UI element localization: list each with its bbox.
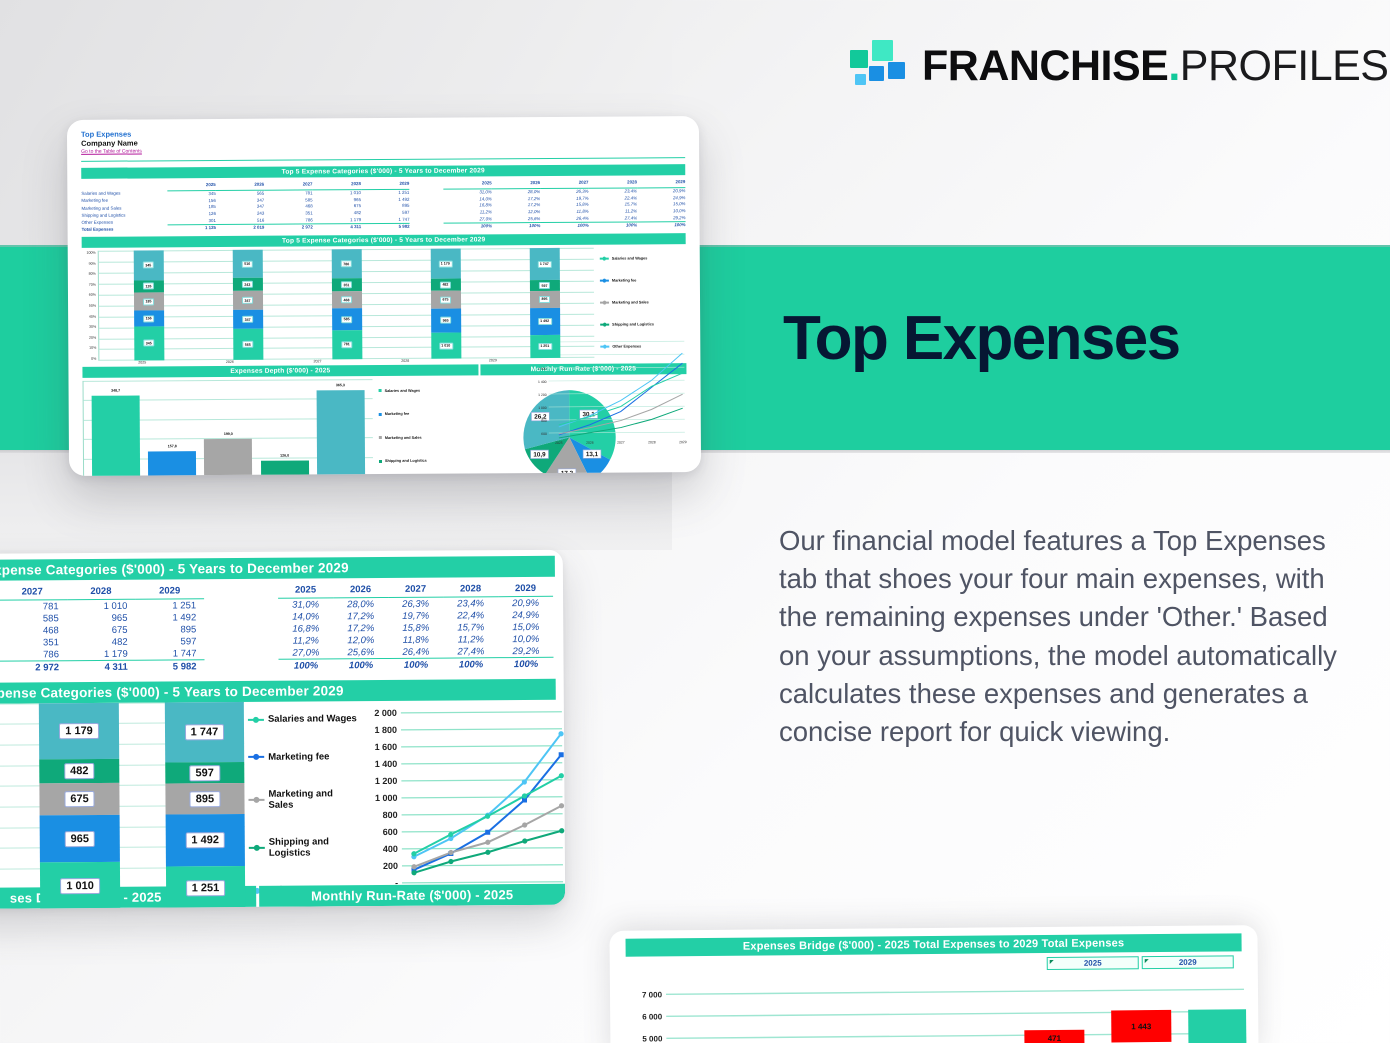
cell-pct: 28,0% [333,598,388,610]
legend-item: Salaries and Wages [379,388,451,393]
cell: 786 [0,648,67,660]
col-header: 2028 [312,181,360,190]
svg-text:2026: 2026 [586,441,594,445]
cell-pct: 15,7% [443,621,498,633]
seg-label: 675 [64,791,94,807]
left-table: 2026 2027 2028 2029 565 781 1 010 1 251 … [0,577,564,675]
svg-text:2027: 2027 [617,441,625,445]
screenshot-card-top-expenses[interactable]: Top Expenses Company Name Go to the Tabl… [67,116,701,476]
cell-pct: 14,0% [278,610,333,622]
cell-total: 2 972 [0,660,67,674]
cell-pct: 10,0% [498,633,553,645]
legend-item: Marketing fee [600,278,686,283]
cell-pct: 11,8% [388,634,443,646]
col-header: 2028 [588,180,636,189]
depth-legend: Salaries and Wages Marketing fee Marketi… [373,379,452,476]
col-header: 2026 [216,182,264,191]
svg-text:1 443: 1 443 [1131,1022,1152,1031]
col-header: 2027 [264,182,312,191]
svg-text:800: 800 [541,419,547,423]
svg-text:200: 200 [383,860,398,870]
cell-total-pct: 100% [499,657,554,671]
logo-mark-icon [850,38,906,94]
screenshot-card-left-detail[interactable]: Top 5 Expense Categories ($'000) - 5 Yea… [0,550,565,910]
seg-label: 482 [64,763,94,779]
cell-total-pct: 100% [492,222,540,230]
seg-label: 1 251 [538,343,552,350]
cell-pct: 17,2% [333,610,388,622]
col-header: 2027 [388,584,443,598]
legend-item: Marketing and Sales [248,788,359,811]
stacked-bar: 516 243 347 347 565 [232,250,263,360]
legend-item: Marketing and Sales [379,435,451,440]
logo-word-franchise: FRANCHISE [922,42,1168,90]
cell-pct: 25,6% [333,646,388,658]
seg-label: 786 [341,260,352,267]
svg-text:2028: 2028 [648,440,656,444]
hero-description: Our financial model features a Top Expen… [779,522,1344,751]
cell-total-pct: 100% [540,222,588,230]
svg-text:2029: 2029 [679,440,687,444]
bar-gap [0,703,41,909]
depth-bar: 365,3 [316,390,365,476]
cell-pct: 31,0% [278,598,333,610]
seg-label: 1 179 [59,723,99,739]
legend-item: Shipping and Logistics [379,459,451,464]
svg-text:5 000: 5 000 [642,1034,663,1043]
cell: 675 [67,624,136,636]
cell-total: 5 982 [136,659,205,673]
cell-pct: 29,2% [498,645,553,657]
cell-total-pct: 100% [279,658,334,672]
left-charts-row: 516 243 347 347 565 1 179 482 675 965 1 … [0,699,565,909]
legend-item: Marketing fee [248,751,359,763]
logo-word-profiles: PROFILES [1180,42,1389,90]
depth-bar: 348,7 [92,396,141,476]
cell: 781 [0,600,67,612]
seg-label: 482 [440,281,451,288]
cell-total: 2 972 [264,224,312,232]
cell: 585 [0,612,67,624]
stacked-bar: 1 747 597 895 1 492 1 251 [529,248,560,358]
svg-text:1 200: 1 200 [375,775,398,785]
legend-swatch-icon [248,799,264,801]
legend-swatch-icon [248,719,264,721]
legend-swatch-icon [248,756,264,758]
seg-label: 675 [440,296,451,303]
cell: 1 251 [135,599,204,611]
svg-text:13,1: 13,1 [585,451,598,458]
seg-label: 1 747 [185,724,225,740]
top-5-table: Salaries and Wages Marketing fee Marketi… [81,179,685,232]
legend-swatch-icon [249,847,265,849]
cell-total-pct: 100% [389,658,444,672]
legend-item: Salaries and Wages [600,256,686,261]
logo-dot: . [1168,42,1179,90]
seg-label: 1 010 [60,878,100,894]
select-to-year[interactable]: 2029 [1142,955,1234,969]
svg-text:1 000: 1 000 [375,792,398,802]
seg-label: 1 179 [438,260,452,267]
cell: 895 [136,623,205,635]
svg-text:600: 600 [383,826,398,836]
cell-pct: 11,2% [443,633,498,645]
seg-label: 565 [242,341,253,348]
seg-label: 345 [143,340,154,347]
left-values-grid: 2026 2027 2028 2029 565 781 1 010 1 251 … [0,585,205,674]
depth-bar: 157,8 [148,452,196,476]
cell-pct: 12,0% [333,634,388,646]
col-header: 2025 [167,182,215,191]
table-gap [409,181,443,231]
cell-total: 1 125 [168,224,216,232]
row-label-total: Total Expenses [82,225,168,233]
stacked-bar: 1 747 597 895 1 492 1 251 [165,701,246,909]
cell-pct: 23,4% [443,597,498,609]
col-header: 2028 [443,583,498,597]
table-percent-grid: 2025 2026 2027 2028 2029 31,0% 28,0% 26,… [443,179,685,230]
seg-label: 965 [440,317,451,324]
waterfall-svg: 7 0006 000 5 0004 000 706 471 1 443 [626,981,1247,1043]
logo-wordmark: FRANCHISE.PROFILES [922,45,1388,88]
legend-item: Salaries and Wages [248,714,359,726]
cell-pct: 17,2% [333,622,388,634]
cell: 351 [0,636,67,648]
legend-item: Marketing and Sales [600,300,686,305]
y-axis-labels: 100%90%80%70%60% 50%40%30%20%10%0% [82,251,99,361]
seg-label: 351 [341,281,352,288]
seg-label: 243 [242,281,253,288]
svg-text:6 000: 6 000 [642,1012,663,1021]
seg-label: 1 010 [439,342,453,349]
cell-total: 4 311 [67,660,136,674]
chart-expenses-depth: 348,7 157,8 199,0 126,0 365,3 [83,379,374,476]
year-selectors[interactable]: 2025 2029 [1047,955,1234,970]
seg-label: 345 [143,262,154,269]
col-header: 2029 [361,181,409,190]
cell-pct: 27,4% [443,645,498,657]
cell-pct: 27,0% [278,646,333,658]
col-header: 2029 [135,585,204,599]
table-row-labels: Salaries and Wages Marketing fee Marketi… [81,183,167,233]
header-rule [81,157,685,162]
cell-total-pct: 100% [637,221,685,229]
svg-text:1 600: 1 600 [538,367,547,371]
chart-line-large: 2 0001 8001 600 1 4001 2001 000 80060040… [359,699,565,908]
page-title: Top Expenses [783,306,1180,371]
table-values-grid: 2025 2026 2027 2028 2029 345 565 781 1 0… [167,181,409,232]
svg-text:800: 800 [383,809,398,819]
cell-total: 4 311 [313,223,361,231]
line-chart-svg: 2 0001 8001 600 1 4001 2001 000 80060040… [359,699,565,908]
col-header: 2029 [637,179,685,188]
banner-expenses-bridge: Expenses Bridge ($'000) - 2025 Total Exp… [626,933,1242,956]
legend-swatch-icon [600,280,609,281]
cell-pct: 20,9% [498,597,553,609]
svg-text:10,9: 10,9 [533,451,546,458]
svg-text:2025: 2025 [555,441,563,445]
seg-label: 347 [242,316,253,323]
legend-item: Marketing fee [379,412,451,417]
cell: 1 179 [67,648,136,660]
seg-label: 1 251 [186,880,226,896]
screenshot-card-expenses-bridge[interactable]: Expenses Bridge ($'000) - 2025 Total Exp… [609,925,1258,1043]
seg-label: 347 [242,297,253,304]
legend-item: Shipping and Logistics [249,836,360,859]
legend-item: Shipping and Logistics [600,322,686,327]
seg-label: 156 [143,315,154,322]
cell: 965 [67,612,136,624]
banner-top-5-chart: Top 5 Expense Categories ($'000) - 5 Yea… [82,233,686,248]
svg-text:7 000: 7 000 [642,990,663,999]
stacked-bar: 786 351 468 585 781 [331,249,362,359]
chart-stacked-bars-large: 516 243 347 347 565 1 179 482 675 965 1 … [0,701,245,909]
seg-label: 781 [341,341,352,348]
seg-label: 895 [539,296,550,303]
seg-label: 468 [341,296,352,303]
col-header: 2025 [278,584,333,598]
cell-pct: 15,0% [498,621,553,633]
banner-runrate: Monthly Run-Rate ($'000) - 2025 [259,884,565,907]
svg-text:2 000: 2 000 [374,707,397,717]
svg-text:1 400: 1 400 [375,758,398,768]
left-chart-legend: Salaries and Wages Marketing fee Marketi… [244,701,360,910]
svg-text:1 600: 1 600 [375,741,398,751]
cell-pct: 19,7% [388,610,443,622]
seg-label: 597 [189,765,219,781]
seg-label: 1 492 [538,318,552,325]
cell-total-pct: 100% [444,223,492,231]
depth-bar: 199,0 [204,438,252,476]
seg-label: 516 [242,260,253,267]
stacked-bar: 345 126 185 156 345 [133,250,164,360]
seg-label: 126 [143,283,154,290]
banner-top-5-table: Top 5 Expense Categories ($'000) - 5 Yea… [81,164,685,179]
left-percent-grid: 2025 2026 2027 2028 2029 31,0% 28,0% 26,… [278,583,554,672]
seg-label: 1 492 [185,832,225,848]
cell: 468 [0,624,67,636]
svg-text:1 800: 1 800 [374,724,397,734]
cell-pct: 22,4% [443,609,498,621]
cell-pct: 15,8% [388,622,443,634]
stacked-bar: 1 179 482 675 965 1 010 [39,702,120,909]
cell-pct: 24,9% [498,609,553,621]
svg-text:400: 400 [383,843,398,853]
col-header: 2028 [66,586,135,600]
stacked-bar: 1 179 482 675 965 1 010 [430,249,461,359]
legend-swatch-icon [600,324,609,325]
banner-expenses-depth: Expenses Depth ($'000) - 2025 [82,364,478,377]
cell-pct: 26,4% [388,646,443,658]
cell-total-pct: 100% [444,657,499,671]
legend-swatch-icon [600,258,609,259]
stacked-plot-area: 345 126 185 156 345 516 243 347 347 565 … [98,248,595,361]
bar-gap [118,702,166,909]
cell: 1 010 [67,600,136,612]
seg-label: 965 [65,831,95,847]
col-header: 2026 [492,180,540,189]
svg-text:1 400: 1 400 [538,380,547,384]
cell-total: 2 019 [216,224,264,232]
col-header: 2026 [333,584,388,598]
cell-pct: 16,8% [278,622,333,634]
depth-bar: 126,0 [261,460,309,476]
cell: 482 [67,636,136,648]
cell: 1 492 [135,611,204,623]
col-header: 2027 [0,586,67,600]
cell-pct: 26,3% [388,598,443,610]
col-header: 2029 [498,583,553,597]
cell: 597 [136,635,205,647]
svg-text:1 200: 1 200 [538,393,547,397]
legend-swatch-icon [600,302,609,303]
brand-logo: FRANCHISE.PROFILES [850,38,1388,94]
cell-total-pct: 100% [589,222,637,230]
svg-text:600: 600 [541,432,547,436]
svg-text:471: 471 [1048,1034,1062,1043]
seg-label: 585 [341,316,352,323]
cell: 1 747 [136,647,205,659]
seg-label: 185 [143,298,154,305]
col-header: 2027 [540,180,588,189]
cell-pct: 11,2% [278,634,333,646]
seg-label: 895 [190,791,220,807]
svg-text:1 000: 1 000 [538,406,547,410]
cell-total-pct: 100% [334,658,389,672]
col-header: 2025 [443,181,491,190]
waterfall-plot: 7 0006 000 5 0004 000 706 471 1 443 [626,981,1249,1043]
seg-label: 1 747 [537,261,551,268]
cell-total: 5 982 [361,223,409,231]
select-from-year[interactable]: 2025 [1047,956,1139,970]
seg-label: 597 [539,282,550,289]
